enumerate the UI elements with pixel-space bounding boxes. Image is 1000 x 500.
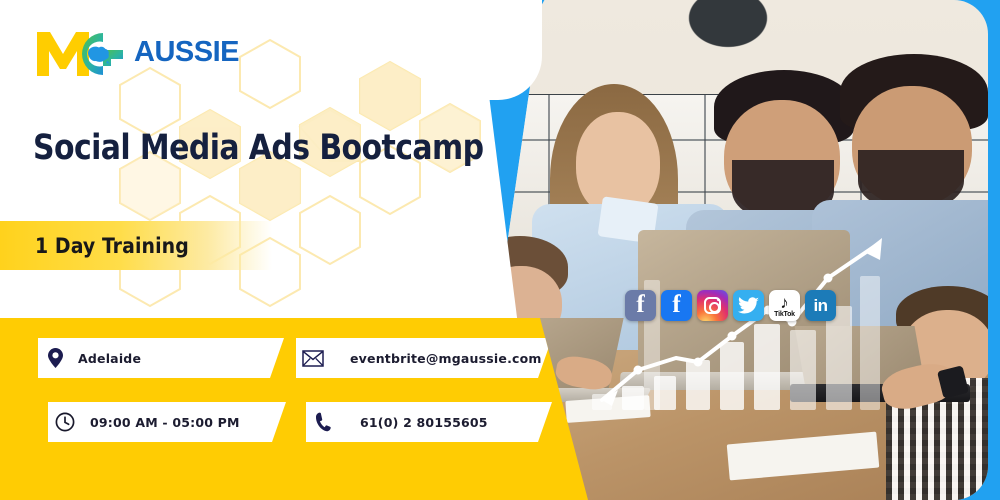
detail-value-email: eventbrite@mgaussie.com xyxy=(350,351,542,366)
social-icon-row: f f ♪ xyxy=(625,290,836,321)
event-details-block: Adelaide eventbrite@mgaussie.com 09:00 A… xyxy=(0,318,588,500)
page-title: Social Media Ads Bootcamp xyxy=(33,128,483,168)
linkedin-glyph: in xyxy=(813,296,827,316)
phone-icon xyxy=(306,412,340,432)
instagram-camera-glyph xyxy=(704,297,721,314)
detail-value-phone: 61(0) 2 80155605 xyxy=(360,415,488,430)
tiktok-note-glyph: ♪ xyxy=(780,294,789,311)
mg-australia-globe-icon xyxy=(33,24,137,80)
tiktok-icon[interactable]: ♪ TikTok xyxy=(769,290,800,321)
logo-wordmark: AUSSIE xyxy=(134,38,239,67)
detail-chip-email[interactable]: eventbrite@mgaussie.com xyxy=(296,338,552,378)
facebook-glyph: f xyxy=(636,292,644,317)
twitter-bird-glyph xyxy=(738,297,759,315)
facebook-icon[interactable]: f xyxy=(625,290,656,321)
detail-chip-time[interactable]: 09:00 AM - 05:00 PM xyxy=(48,402,286,442)
detail-value-time: 09:00 AM - 05:00 PM xyxy=(90,415,240,430)
clock-icon xyxy=(48,412,82,432)
event-banner: f f ♪ xyxy=(0,0,1000,500)
detail-chip-location[interactable]: Adelaide xyxy=(38,338,284,378)
detail-chip-phone[interactable]: 61(0) 2 80155605 xyxy=(306,402,552,442)
facebook-icon[interactable]: f xyxy=(661,290,692,321)
twitter-bird-icon[interactable] xyxy=(733,290,764,321)
facebook-glyph: f xyxy=(672,292,680,317)
linkedin-icon[interactable]: in xyxy=(805,290,836,321)
trend-line xyxy=(592,250,922,410)
subtitle-label: 1 Day Training xyxy=(35,234,189,258)
envelope-icon xyxy=(296,350,330,367)
white-curve-mask xyxy=(452,0,542,100)
growth-bar-chart-overlay xyxy=(592,250,922,410)
subtitle-banner: 1 Day Training xyxy=(0,221,272,270)
location-pin-icon xyxy=(38,348,72,368)
detail-value-location: Adelaide xyxy=(78,351,141,366)
instagram-icon[interactable] xyxy=(697,290,728,321)
tiktok-label: TikTok xyxy=(774,311,795,318)
brand-logo[interactable]: AUSSIE xyxy=(33,24,239,80)
